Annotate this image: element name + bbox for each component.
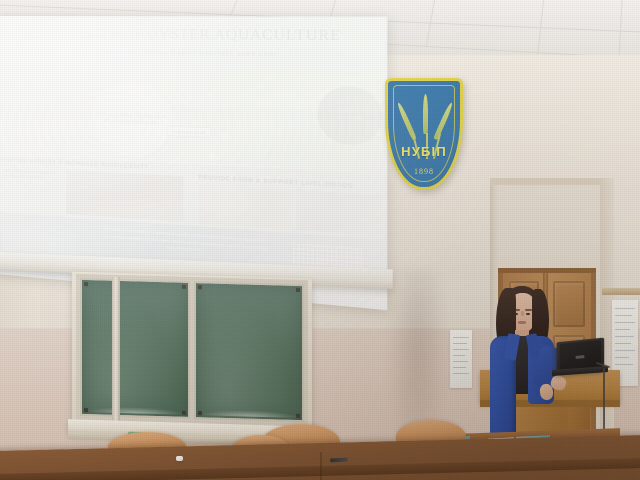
desk-panel-seam bbox=[320, 452, 322, 480]
university-emblem: НУБІП 1898 bbox=[385, 78, 463, 190]
dark-circle-text: FILTER OUT EXCESS NUTRIENTS bbox=[318, 109, 383, 122]
flow-arrow-icon bbox=[211, 152, 219, 161]
wall-shelf bbox=[602, 288, 640, 295]
chalkboard-panel-left[interactable] bbox=[80, 278, 190, 419]
flow-arrow-icon bbox=[223, 132, 231, 141]
mouth bbox=[518, 321, 526, 324]
emblem-year-label: 1898 bbox=[388, 167, 460, 176]
shellfish-farmer-photo bbox=[296, 191, 382, 237]
lecture-hall-photo: THE BENEFITS OF OYSTER AQUACULTURE SHELL… bbox=[0, 0, 640, 480]
emblem-shield-shape: НУБІП 1898 bbox=[385, 78, 463, 190]
notice-sheet-left[interactable] bbox=[450, 330, 472, 388]
chalk-piece[interactable] bbox=[176, 456, 183, 461]
oyster-plate-photo bbox=[199, 185, 293, 230]
nose bbox=[521, 311, 524, 316]
fact-circle-text: One adult oyster can filter up to 50 gal… bbox=[92, 111, 171, 127]
wheat-icon bbox=[423, 94, 428, 134]
chalkboard-center-divider bbox=[112, 277, 120, 423]
chalkboard-panel-right[interactable] bbox=[194, 281, 304, 422]
emblem-name-label: НУБІП bbox=[388, 144, 460, 159]
slide-footer-text: The Nature Conservancy is working to res… bbox=[103, 226, 267, 259]
oyster-reef-photo bbox=[66, 169, 182, 222]
alcove-lintel bbox=[490, 178, 612, 185]
clean-water-pill: CLEAN WATER bbox=[167, 126, 210, 138]
chalkboard-frame bbox=[76, 274, 308, 426]
